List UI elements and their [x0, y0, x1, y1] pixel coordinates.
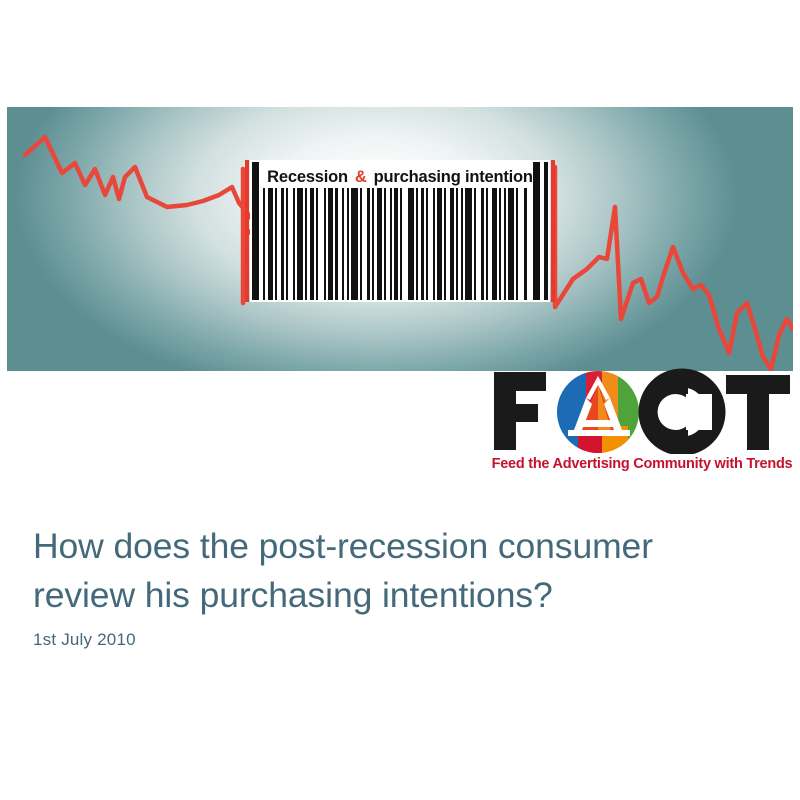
barcode-panel: Recession & purchasing intention [250, 160, 550, 302]
page-title: How does the post-recession consumer rev… [33, 522, 763, 620]
barcode-bar [305, 188, 307, 300]
barcode-bar [347, 188, 349, 300]
barcode-bar [400, 188, 402, 300]
barcode-bar [310, 188, 314, 300]
barcode-bar [324, 188, 326, 300]
logo-letter-c [640, 378, 716, 446]
barcode-title-ampersand: & [352, 168, 370, 187]
barcode-bar [297, 188, 303, 300]
barcode-frame-line-left [245, 160, 249, 302]
date-label: 1st July 2010 [33, 630, 136, 650]
barcode-bar [508, 188, 514, 300]
barcode-bar [367, 188, 370, 300]
fact-wordmark [490, 368, 794, 454]
barcode-bar [351, 188, 358, 300]
barcode-bar [492, 188, 497, 300]
barcode-title-word-1: Recession [267, 168, 348, 187]
barcode-graphic: Recession & purchasing intention [245, 160, 555, 302]
barcode-bar [465, 188, 472, 300]
barcode-bar [335, 188, 338, 300]
barcode-bar [474, 188, 476, 300]
title-slide: Recession & purchasing intention [0, 0, 800, 800]
page-title-line-2: review his purchasing intentions? [33, 571, 763, 620]
barcode-bar [281, 188, 284, 300]
barcode-title: Recession & purchasing intention [250, 164, 550, 190]
barcode-bar [408, 188, 414, 300]
barcode-bar [275, 188, 277, 300]
barcode-bar [444, 188, 446, 300]
header-banner-image: Recession & purchasing intention [7, 107, 793, 371]
barcode-title-word-2: purchasing intention [374, 168, 533, 187]
barcode-bar [524, 188, 527, 300]
barcode-bar [433, 188, 435, 300]
barcode-bar [342, 188, 344, 300]
barcode-bar [504, 188, 506, 300]
barcode-bar [394, 188, 398, 300]
logo-letter-a-emblem [550, 368, 644, 454]
barcode-bar [384, 188, 386, 300]
barcode-bar [372, 188, 374, 300]
barcode-bar [316, 188, 318, 300]
barcode-bar [293, 188, 295, 300]
barcode-bar [268, 188, 273, 300]
barcode-bar [499, 188, 501, 300]
barcode-guard-bar-right-2 [544, 162, 548, 300]
barcode-bar [377, 188, 382, 300]
barcode-bar [516, 188, 518, 300]
logo-tagline: Feed the Advertising Community with Tren… [490, 456, 794, 472]
barcode-bar [421, 188, 424, 300]
barcode-bars [263, 188, 529, 300]
barcode-bar [360, 188, 362, 300]
logo-letter-f [494, 372, 546, 450]
fact-logo: Feed the Advertising Community with Tren… [490, 368, 794, 480]
barcode-bar [437, 188, 442, 300]
barcode-bar [426, 188, 428, 300]
barcode-bar [263, 188, 265, 300]
barcode-guard-bar-right-1 [533, 162, 540, 300]
barcode-bar [461, 188, 463, 300]
barcode-bar [286, 188, 288, 300]
barcode-bar [486, 188, 488, 300]
barcode-bar [416, 188, 418, 300]
barcode-bar [450, 188, 454, 300]
chart-line-right [555, 167, 793, 369]
page-title-line-1: How does the post-recession consumer [33, 522, 763, 571]
logo-letter-t [726, 375, 790, 450]
barcode-frame-line-right [551, 160, 555, 302]
barcode-bar [328, 188, 333, 300]
barcode-bar [456, 188, 458, 300]
chart-line-left [25, 137, 257, 227]
barcode-guard-bar-left [252, 162, 259, 300]
barcode-bar [390, 188, 392, 300]
barcode-bar [481, 188, 484, 300]
